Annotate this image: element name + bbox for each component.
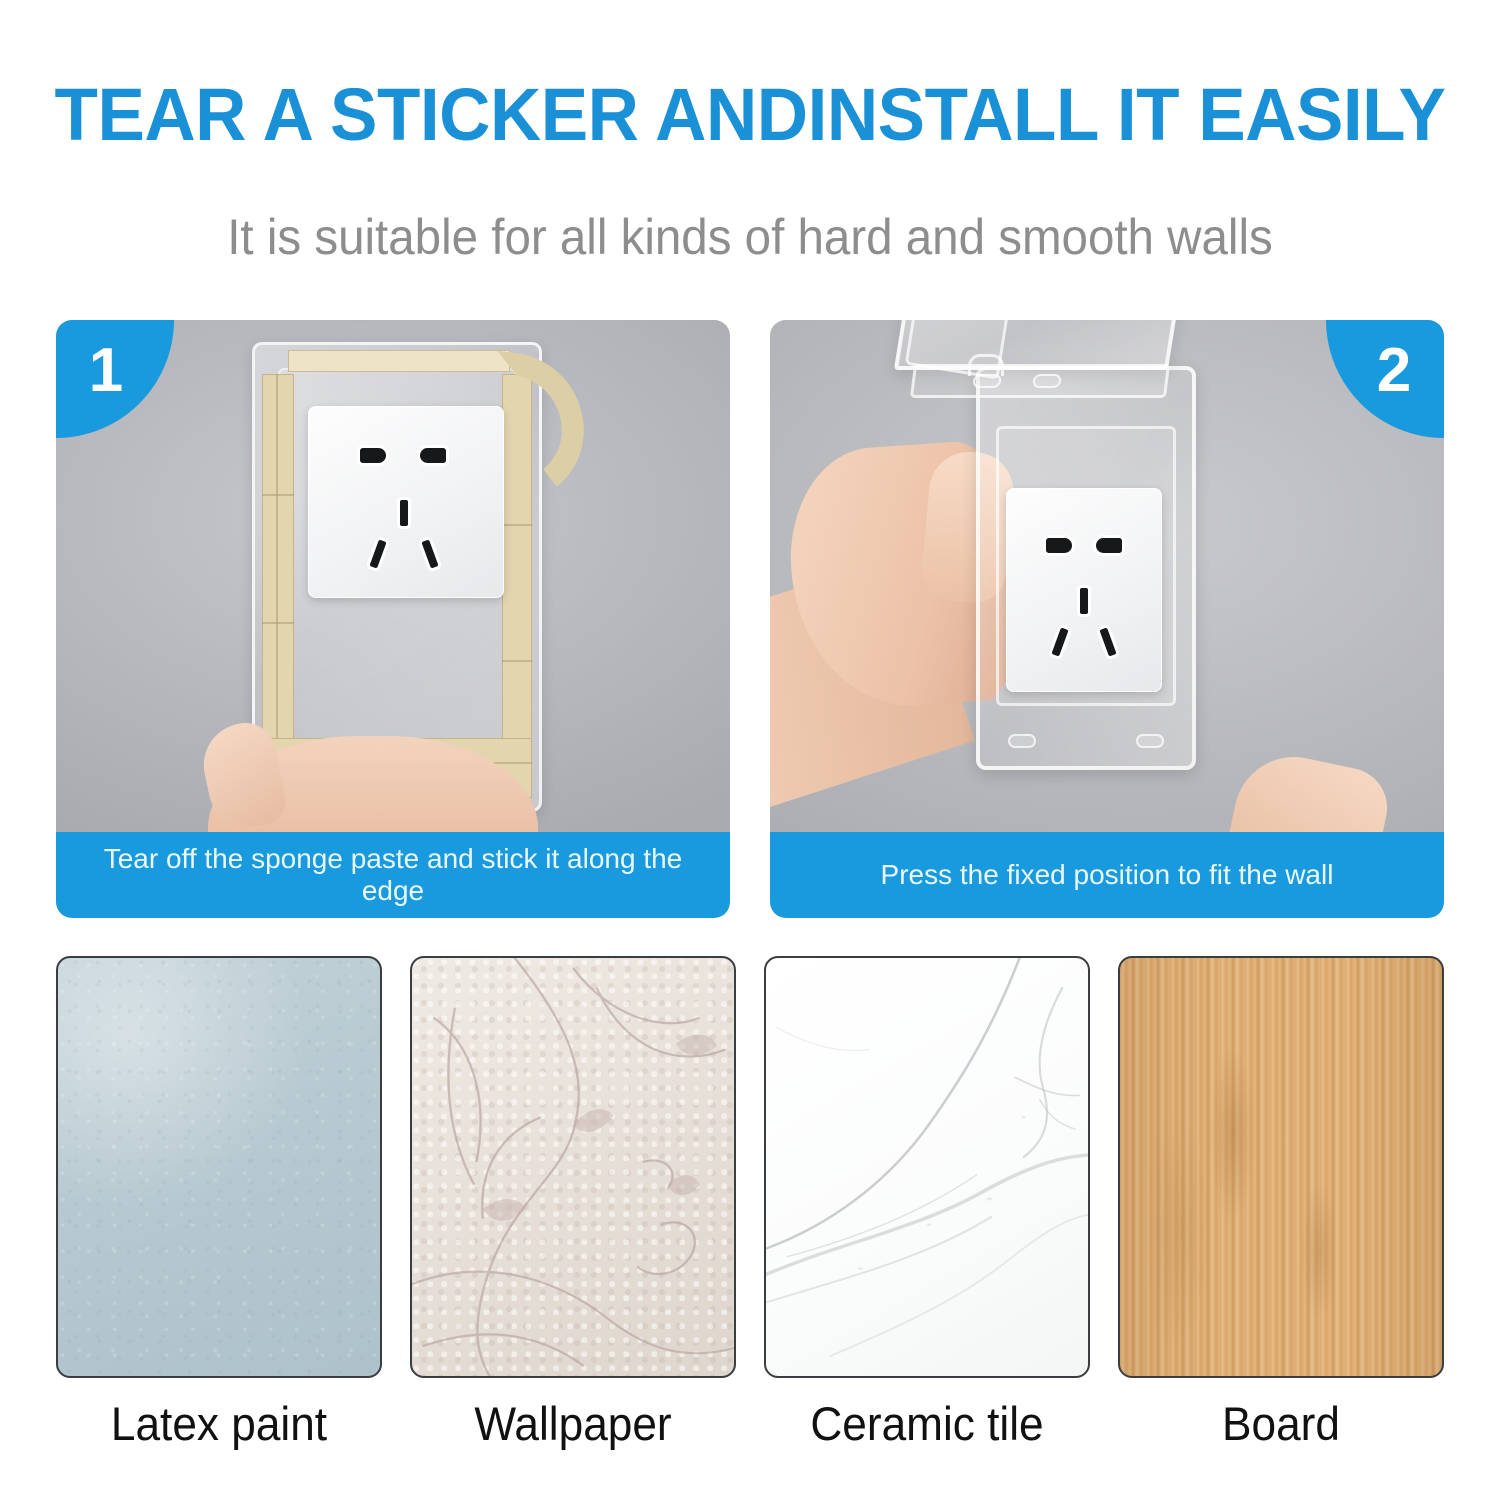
wallpaper-swatch	[410, 956, 736, 1378]
step-2-photo: 2	[770, 320, 1444, 832]
wall-socket-faceplate	[308, 406, 504, 598]
step-caption-2: Press the fixed position to fit the wall	[770, 832, 1444, 918]
material-board: Board	[1118, 956, 1444, 1451]
latex-paint-swatch	[56, 956, 382, 1378]
wallpaper-damask-pattern	[412, 958, 734, 1376]
step-card-2: 2 Press the fixed position to fit the wa…	[770, 320, 1444, 918]
marble-veining	[766, 958, 1088, 1376]
material-wallpaper: Wallpaper	[410, 956, 736, 1451]
socket-slot-angled-left	[1051, 627, 1068, 656]
material-label: Latex paint	[66, 1396, 372, 1451]
material-ceramic-tile: Ceramic tile	[764, 956, 1090, 1451]
step-card-1: 1 Tear off the sponge paste and stick it…	[56, 320, 730, 918]
socket-slot-angled-right	[421, 539, 438, 568]
socket-slot-flat-right	[1096, 538, 1122, 553]
cover-hinge-bar	[910, 364, 1170, 398]
product-infographic: TEAR A STICKER ANDINSTALL IT EASILY It i…	[0, 0, 1500, 1500]
page-subtitle: It is suitable for all kinds of hard and…	[38, 208, 1463, 266]
material-label: Ceramic tile	[774, 1396, 1080, 1451]
cover-clip-left	[1008, 734, 1036, 748]
supported-surfaces: Latex paint	[56, 956, 1444, 1451]
material-latex-paint: Latex paint	[56, 956, 382, 1451]
waterproof-cover-lid	[894, 320, 1188, 370]
socket-slot-flat-right	[420, 448, 446, 463]
step-number-label: 1	[89, 335, 123, 406]
board-swatch	[1118, 956, 1444, 1378]
cover-clip-right	[1136, 734, 1164, 748]
sponge-tape-top	[288, 350, 510, 372]
socket-slot-ground	[1080, 588, 1088, 614]
page-title: TEAR A STICKER ANDINSTALL IT EASILY	[30, 72, 1470, 157]
ceramic-tile-swatch	[764, 956, 1090, 1378]
installation-steps: 1 Tear off the sponge paste and stick it…	[56, 320, 1444, 918]
socket-slot-angled-left	[369, 539, 386, 568]
hinge-slot-right	[1032, 374, 1062, 388]
socket-slot-ground	[400, 500, 408, 526]
step-caption-1: Tear off the sponge paste and stick it a…	[56, 832, 730, 918]
material-label: Board	[1128, 1396, 1434, 1451]
socket-slot-angled-right	[1099, 627, 1116, 656]
cover-cable-notch	[968, 354, 1004, 376]
wall-socket-faceplate	[1006, 488, 1162, 692]
hinge-slot-left	[972, 374, 1002, 388]
sponge-tape-left	[262, 374, 294, 774]
material-label: Wallpaper	[420, 1396, 726, 1451]
step-number-label: 2	[1377, 335, 1411, 406]
socket-slot-flat-left	[360, 448, 386, 463]
socket-slot-flat-left	[1046, 538, 1072, 553]
step-1-photo: 1	[56, 320, 730, 832]
